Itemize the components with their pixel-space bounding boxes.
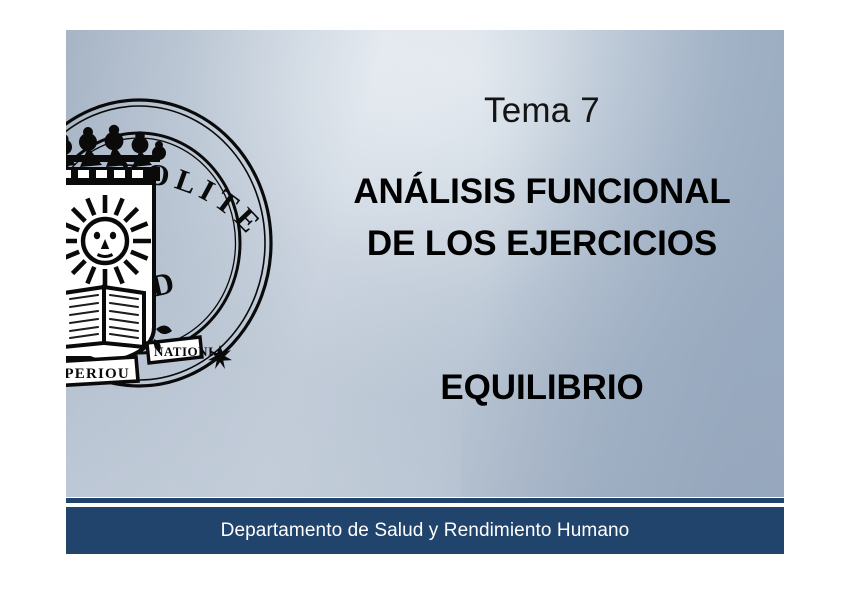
seal-open-book-icon: [66, 287, 144, 347]
seal-sun-icon: [66, 195, 151, 287]
slide-subject-heading: EQUILIBRIO: [300, 368, 784, 408]
footer-bar: Departamento de Salud y Rendimiento Huma…: [66, 507, 784, 554]
svg-text:DRID: DRID: [81, 259, 182, 305]
seal-star-icon: [208, 345, 232, 369]
seal-ring-text-upper: D ✱ POLITECNICA: [66, 75, 270, 243]
slide-main-title: ANÁLISIS FUNCIONAL DE LOS EJERCICIOS: [300, 166, 784, 270]
seal-scroll-lower: IMPERIOU: [66, 357, 138, 387]
seal-scroll-upper-text: NATIONI: [154, 344, 214, 359]
seal-ring-text-lower: DRID: [81, 259, 182, 305]
university-seal-logo: D ✱ POLITECNICA DRID: [66, 75, 274, 410]
footer-department-text: Departamento de Salud y Rendimiento Huma…: [221, 520, 630, 542]
topic-number-label: Tema 7: [300, 92, 784, 131]
footer-accent-rule: [66, 498, 784, 503]
seal-coat-of-arms: NATIONI IMPERIOU: [66, 125, 214, 387]
slide-main-title-line-1: ANÁLISIS FUNCIONAL: [300, 166, 784, 218]
slide-title-block: Tema 7 ANÁLISIS FUNCIONAL DE LOS EJERCIC…: [300, 30, 784, 497]
seal-scroll-upper: NATIONI: [147, 337, 214, 363]
seal-flourish: [154, 325, 172, 351]
presentation-slide: D ✱ POLITECNICA DRID: [66, 30, 784, 497]
slide-main-title-line-2: DE LOS EJERCICIOS: [300, 218, 784, 270]
seal-scroll-lower-text: IMPERIOU: [66, 366, 130, 382]
svg-text:D ✱ POLITECNICA: D ✱ POLITECNICA: [66, 75, 270, 243]
seal-crown-icon: [66, 125, 166, 181]
